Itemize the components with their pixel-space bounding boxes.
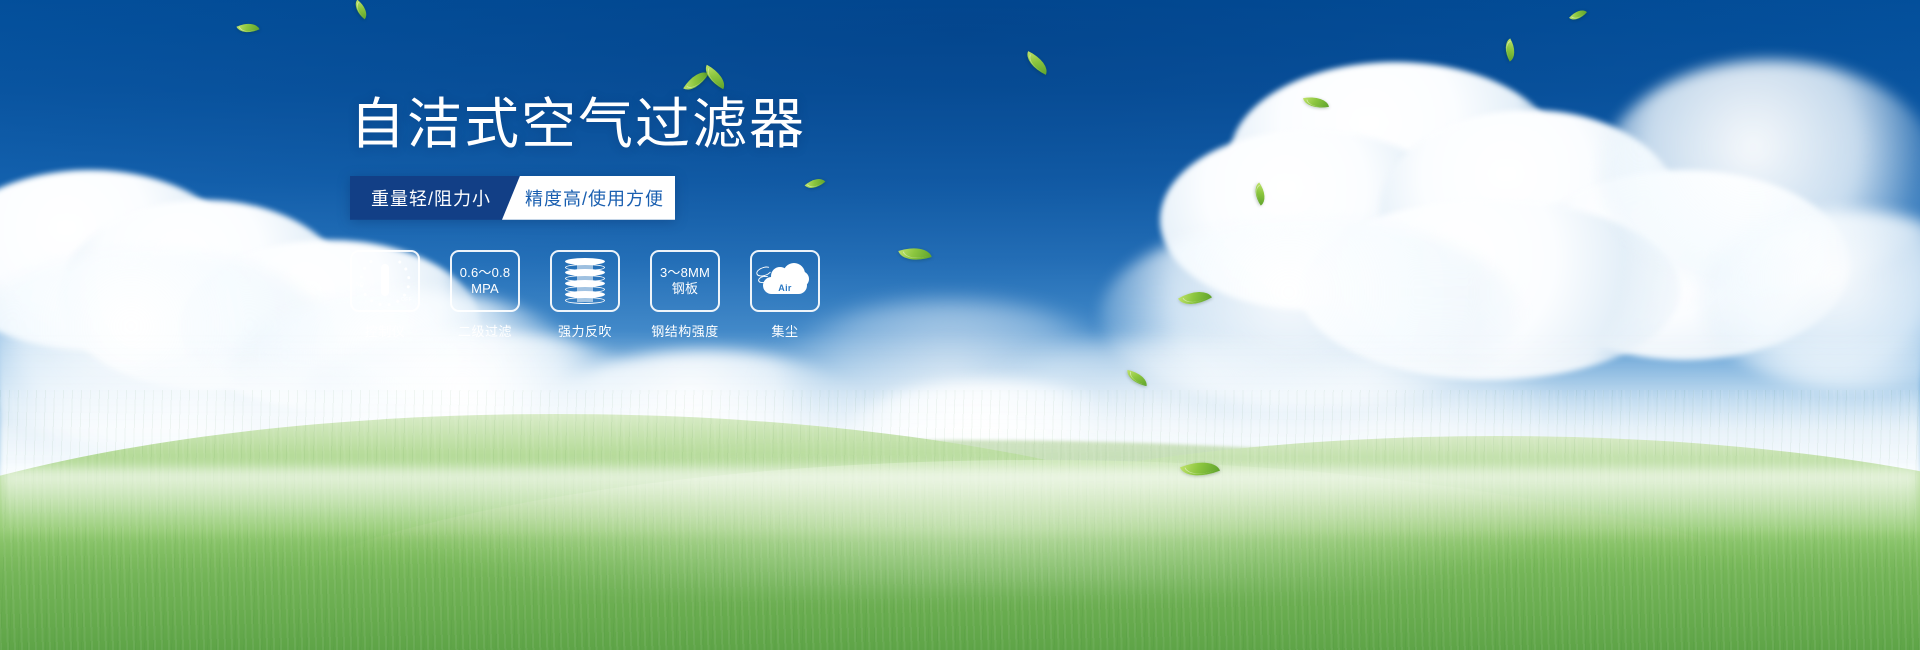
gauge-label-off: OFF (401, 297, 412, 303)
feature-label: 集尘 (750, 321, 820, 340)
feature-box: 0.6～0.8 MPA (450, 250, 520, 312)
page-title: 自洁式空气过滤器 (350, 96, 806, 154)
feature-label: 控制仪 (350, 321, 420, 340)
feature-box: NO OFF (350, 250, 420, 312)
banner-content: 自洁式空气过滤器 重量轻/阻力小 精度高/使用方便 (350, 96, 970, 340)
tag-primary[interactable]: 重量轻/阻力小 (350, 176, 520, 220)
pressure-unit: MPA (460, 281, 511, 297)
steel-thickness: 3～8MM (660, 265, 710, 281)
feature-item-steel[interactable]: 3～8MM 钢板 钢结构强度 (650, 250, 720, 340)
gauge-icon: NO OFF (357, 256, 413, 306)
feature-label: 强力反吹 (550, 321, 620, 340)
feature-label: 二级过滤 (450, 321, 520, 340)
feature-label: 钢结构强度 (650, 321, 720, 340)
feature-item-dust[interactable]: Air 集尘 (750, 250, 820, 340)
feature-item-filtration[interactable]: 0.6～0.8 MPA 二级过滤 (450, 250, 520, 340)
air-label: Air (759, 283, 811, 293)
steel-text-icon: 3～8MM 钢板 (660, 265, 710, 298)
pressure-value: 0.6～0.8 (460, 265, 511, 281)
tag-secondary[interactable]: 精度高/使用方便 (502, 176, 675, 220)
steel-material: 钢板 (660, 281, 710, 297)
feature-item-control[interactable]: NO OFF 控制仪 (350, 250, 420, 340)
gauge-needle (381, 264, 389, 296)
headline-wrapper: 自洁式空气过滤器 (350, 96, 806, 154)
feature-box: 3～8MM 钢板 (650, 250, 720, 312)
filter-stack-icon (565, 258, 605, 304)
air-cloud-icon: Air (759, 261, 811, 301)
horizon-glow (0, 468, 1920, 538)
feature-tag-bar: 重量轻/阻力小 精度高/使用方便 (350, 176, 675, 220)
hero-banner: 自洁式空气过滤器 重量轻/阻力小 精度高/使用方便 (0, 0, 1920, 650)
feature-icon-row: NO OFF 控制仪 0.6～0.8 MPA 二级过滤 (350, 250, 970, 340)
feature-box (550, 250, 620, 312)
pressure-text-icon: 0.6～0.8 MPA (460, 265, 511, 298)
feature-box: Air (750, 250, 820, 312)
feature-item-backblow[interactable]: 强力反吹 (550, 250, 620, 340)
gauge-label-no: NO (356, 282, 364, 288)
